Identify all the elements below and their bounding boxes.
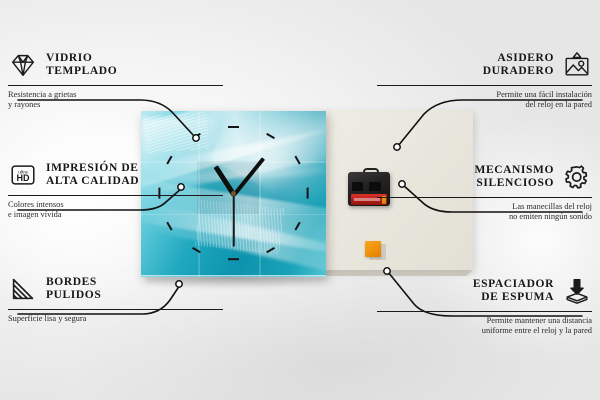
feature-impresion-alta-calidad[interactable]: ultra HD IMPRESIÓN DE ALTA CALIDAD Color… [8, 158, 223, 221]
feature-description: Permite una fácil instalación del reloj … [377, 90, 592, 111]
feature-divider [377, 311, 592, 312]
feature-bordes-pulidos[interactable]: BORDES PULIDOS Superficie lisa y segura [8, 272, 223, 324]
feature-title: ASIDERO DURADERO [377, 52, 554, 78]
svg-text:HD: HD [17, 173, 30, 183]
feature-divider [8, 85, 223, 86]
feature-asidero-duradero[interactable]: ASIDERO DURADERO Permite una fácil insta… [377, 48, 592, 111]
polished-edges-icon [8, 274, 38, 304]
feature-title: ESPACIADOR DE ESPUMA [377, 278, 554, 304]
feature-mecanismo-silencioso[interactable]: MECANISMO SILENCIOSO Las manecillas del … [377, 160, 592, 223]
feature-description: Permite mantener una distancia uniforme … [377, 316, 592, 337]
feature-description: Colores intensos e imagen vívida [8, 200, 223, 221]
diamond-icon [8, 50, 38, 80]
feature-header: BORDES PULIDOS [8, 272, 223, 306]
feature-title: BORDES PULIDOS [46, 276, 223, 302]
gear-icon [562, 162, 592, 192]
ultra-hd-icon: ultra HD [8, 160, 38, 190]
feature-divider [8, 195, 223, 196]
feature-divider [8, 309, 223, 310]
feature-title: VIDRIO TEMPLADO [46, 52, 223, 78]
connector-node-asidero [394, 144, 400, 150]
feature-header: ultra HD IMPRESIÓN DE ALTA CALIDAD [8, 158, 223, 192]
framed-picture-icon [562, 50, 592, 80]
feature-description: Resistencia a grietas y rayones [8, 90, 223, 111]
infographic-canvas: VIDRIO TEMPLADO Resistencia a grietas y … [0, 0, 600, 400]
feature-header: MECANISMO SILENCIOSO [377, 160, 592, 194]
foam-press-icon [562, 276, 592, 306]
feature-vidrio-templado[interactable]: VIDRIO TEMPLADO Resistencia a grietas y … [8, 48, 223, 111]
connector-node-vidrio [193, 135, 199, 141]
feature-description: Las manecillas del reloj no emiten ningú… [377, 202, 592, 223]
feature-title: MECANISMO SILENCIOSO [377, 164, 554, 190]
feature-header: ESPACIADOR DE ESPUMA [377, 274, 592, 308]
feature-title: IMPRESIÓN DE ALTA CALIDAD [46, 162, 223, 188]
feature-header: VIDRIO TEMPLADO [8, 48, 223, 82]
feature-divider [377, 197, 592, 198]
feature-divider [377, 85, 592, 86]
feature-espaciador-espuma[interactable]: ESPACIADOR DE ESPUMA Permite mantener un… [377, 274, 592, 337]
feature-description: Superficie lisa y segura [8, 314, 223, 324]
feature-header: ASIDERO DURADERO [377, 48, 592, 82]
